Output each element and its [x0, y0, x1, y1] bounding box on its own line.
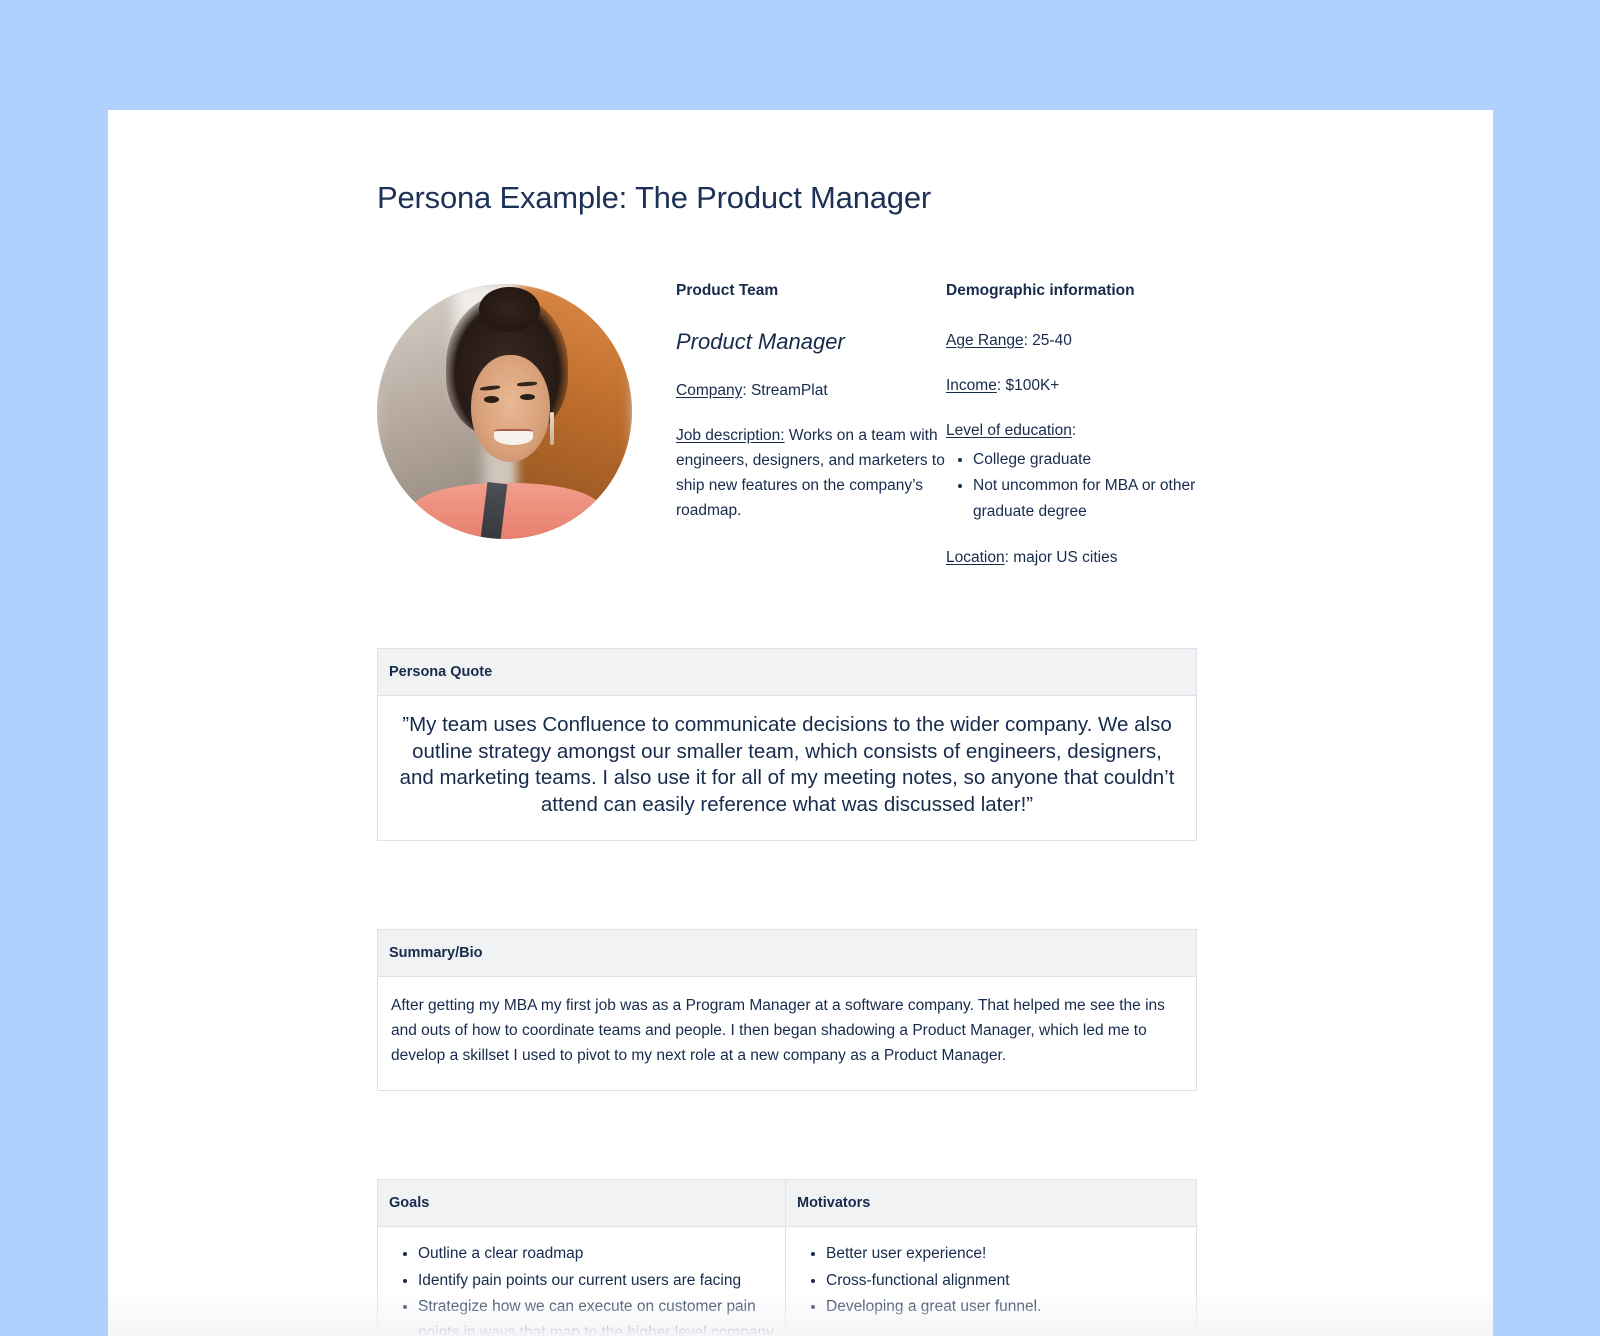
persona-avatar-photo — [377, 284, 632, 539]
summary-bio-panel: Summary/Bio After getting my MBA my firs… — [377, 929, 1197, 1091]
page-title: Persona Example: The Product Manager — [377, 178, 1197, 218]
location-label: Location — [946, 549, 1005, 566]
persona-quote-panel: Persona Quote ”My team uses Confluence t… — [377, 648, 1197, 841]
motivators-header: Motivators — [786, 1180, 1196, 1227]
education-field: Level of education: — [946, 418, 1196, 443]
location-field: Location: major US cities — [946, 545, 1196, 570]
list-item: Strategize how we can execute on custome… — [418, 1294, 774, 1336]
demographic-column: Demographic information Age Range: 25-40… — [946, 280, 1196, 570]
avatar-eye-left — [484, 396, 499, 403]
motivators-body: Better user experience! Cross-functional… — [786, 1227, 1196, 1336]
document-content: Persona Example: The Product Manager — [377, 178, 1197, 1336]
summary-bio-text: After getting my MBA my first job was as… — [389, 991, 1185, 1072]
persona-quote-text: ”My team uses Confluence to communicate … — [389, 710, 1185, 822]
avatar-sweater — [413, 483, 602, 539]
motivators-list: Better user experience! Cross-functional… — [797, 1241, 1185, 1320]
list-item: Better user experience! — [826, 1241, 1185, 1267]
income-value: : $100K+ — [997, 377, 1059, 394]
goals-body: Outline a clear roadmap Identify pain po… — [378, 1227, 785, 1336]
role-column: Product Team Product Manager Company: St… — [676, 280, 946, 523]
role-title: Product Manager — [676, 328, 946, 356]
age-range-label: Age Range — [946, 332, 1024, 349]
age-range-value: : 25-40 — [1024, 332, 1072, 349]
goals-list: Outline a clear roadmap Identify pain po… — [389, 1241, 774, 1336]
role-column-heading: Product Team — [676, 280, 946, 302]
motivators-column: Motivators Better user experience! Cross… — [786, 1180, 1196, 1336]
company-label: Company — [676, 382, 742, 399]
persona-quote-body: ”My team uses Confluence to communicate … — [378, 696, 1196, 840]
list-item: Identify pain points our current users a… — [418, 1268, 774, 1294]
list-item: Developing a great user funnel. — [826, 1294, 1185, 1320]
summary-bio-body: After getting my MBA my first job was as… — [378, 977, 1196, 1090]
persona-overview-row: Product Team Product Manager Company: St… — [377, 280, 1197, 570]
income-label: Income — [946, 377, 997, 394]
job-description-label: Job description: — [676, 427, 785, 444]
avatar-cell — [377, 280, 676, 539]
location-value: : major US cities — [1005, 549, 1118, 566]
income-field: Income: $100K+ — [946, 373, 1196, 398]
list-item: Cross-functional alignment — [826, 1268, 1185, 1294]
education-value: : — [1072, 422, 1076, 439]
goals-column: Goals Outline a clear roadmap Identify p… — [378, 1180, 786, 1336]
company-value: : StreamPlat — [742, 382, 827, 399]
job-description-field: Job description: Works on a team with en… — [676, 423, 946, 523]
avatar-hair-bun — [479, 287, 540, 333]
goals-motivators-table: Goals Outline a clear roadmap Identify p… — [377, 1179, 1197, 1336]
list-item: College graduate — [973, 447, 1196, 473]
demographic-column-heading: Demographic information — [946, 280, 1196, 302]
persona-quote-header: Persona Quote — [378, 649, 1196, 696]
document-page: Persona Example: The Product Manager — [108, 110, 1493, 1336]
list-item: Not uncommon for MBA or other graduate d… — [973, 473, 1196, 525]
avatar-earring — [550, 412, 554, 445]
company-field: Company: StreamPlat — [676, 378, 946, 403]
goals-header: Goals — [378, 1180, 785, 1227]
education-list: College graduate Not uncommon for MBA or… — [946, 447, 1196, 525]
list-item: Outline a clear roadmap — [418, 1241, 774, 1267]
summary-bio-header: Summary/Bio — [378, 930, 1196, 977]
age-range-field: Age Range: 25-40 — [946, 328, 1196, 353]
education-label: Level of education — [946, 422, 1072, 439]
